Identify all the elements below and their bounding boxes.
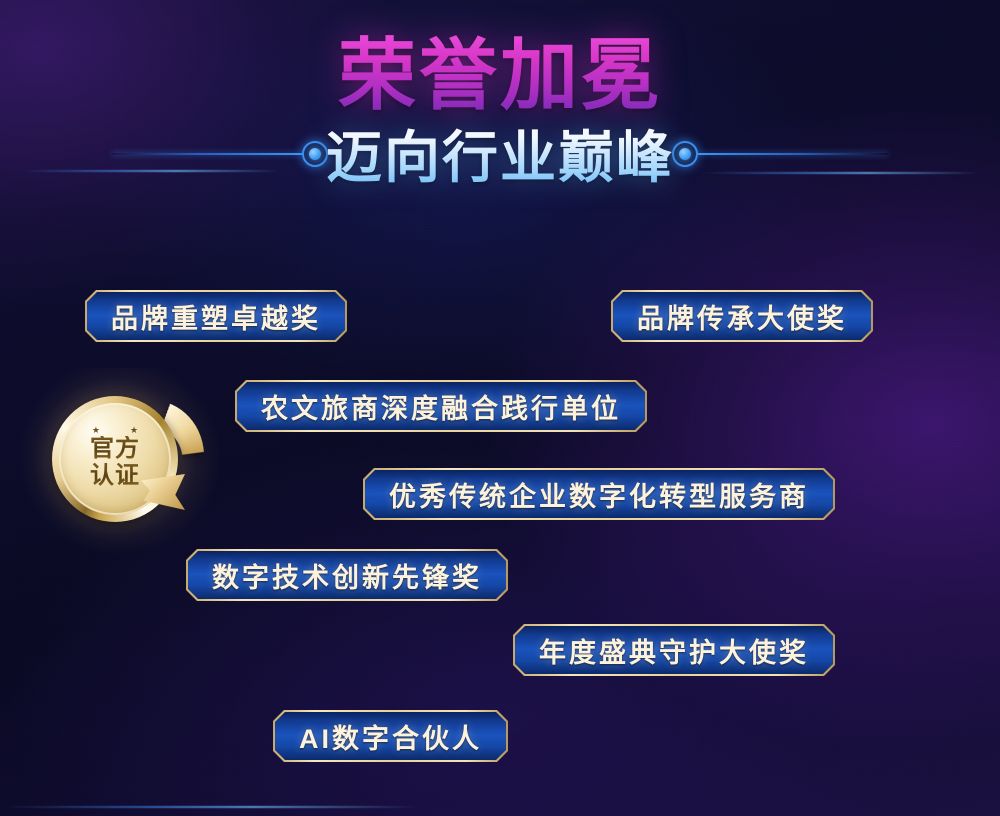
star-icon-left: ★ [92,426,100,435]
award-tag-label: 品牌传承大使奖 [637,297,847,336]
deco-line-left [112,153,302,155]
official-certification-seal: ★ ★ 官方 认证 [46,392,196,524]
award-tag-label: 农文旅商深度融合践行单位 [261,387,621,426]
award-tag-label: 品牌重塑卓越奖 [111,297,321,336]
award-tag-label: AI数字合伙人 [299,717,482,756]
right-decoration [672,141,888,167]
award-tag-label: 优秀传统企业数字化转型服务商 [389,475,809,514]
star-icon-right: ★ [130,426,138,435]
seal-stars: ★ ★ [92,426,138,435]
subtitle-row: 迈向行业巅峰 [0,115,1000,193]
award-tag-label: 数字技术创新先锋奖 [212,556,482,595]
poster-header: 荣誉加冕 迈向行业巅峰 [0,34,1000,193]
award-tag[interactable]: 优秀传统企业数字化转型服务商 [363,468,835,520]
award-tag[interactable]: 品牌传承大使奖 [611,290,873,342]
award-tag[interactable]: 品牌重塑卓越奖 [85,290,347,342]
award-tag[interactable]: AI数字合伙人 [273,710,508,762]
seal-text-line-1: 官方 [90,436,140,463]
award-tag[interactable]: 年度盛典守护大使奖 [513,624,835,676]
award-tag-label: 年度盛典守护大使奖 [539,631,809,670]
page-subtitle: 迈向行业巅峰 [300,113,700,194]
poster-canvas: 荣誉加冕 迈向行业巅峰 ★ ★ [0,0,1000,816]
award-tag[interactable]: 农文旅商深度融合践行单位 [235,380,647,432]
seal-text-line-2: 认证 [90,463,140,490]
page-title: 荣誉加冕 [0,34,1000,117]
deco-line-right [698,153,888,155]
award-tag[interactable]: 数字技术创新先锋奖 [186,549,508,601]
left-decoration [112,141,328,167]
